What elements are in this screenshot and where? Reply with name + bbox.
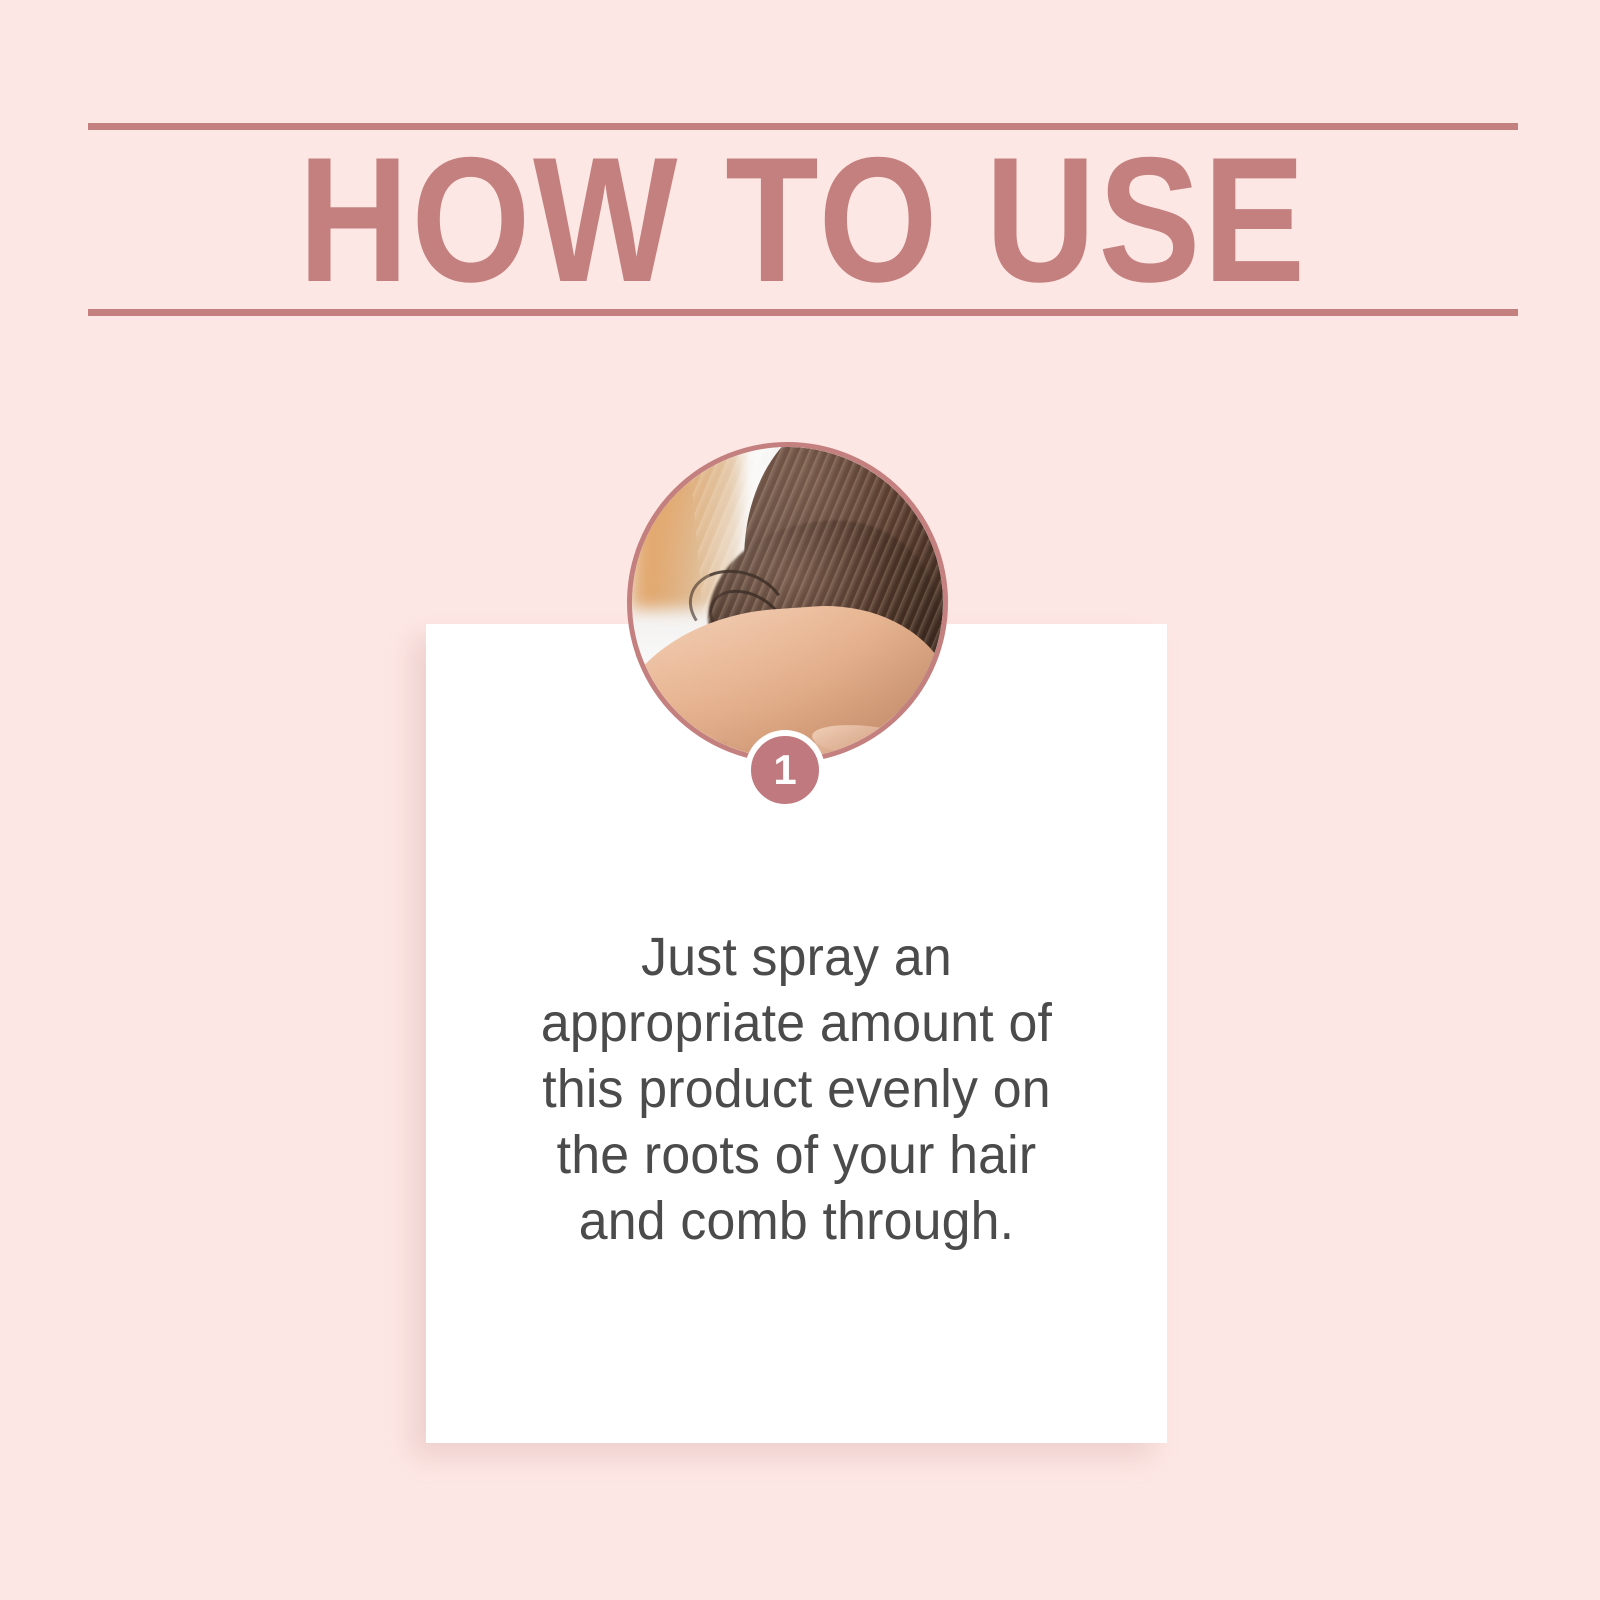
- photo-vignette: [632, 447, 943, 758]
- step-description: Just spray an appropriate amount of this…: [479, 924, 1114, 1254]
- step-number-badge: 1: [745, 730, 825, 810]
- header-rule-bottom: [88, 309, 1518, 316]
- hand-holding-wet-hair-photo: [627, 442, 948, 763]
- step-photo-wrapper: [627, 442, 948, 763]
- header: HOW TO USE: [88, 123, 1518, 316]
- poster-canvas: HOW TO USE Just spray an appropriate amo…: [0, 0, 1600, 1600]
- page-title: HOW TO USE: [188, 123, 1418, 316]
- photo-inner: [632, 447, 943, 758]
